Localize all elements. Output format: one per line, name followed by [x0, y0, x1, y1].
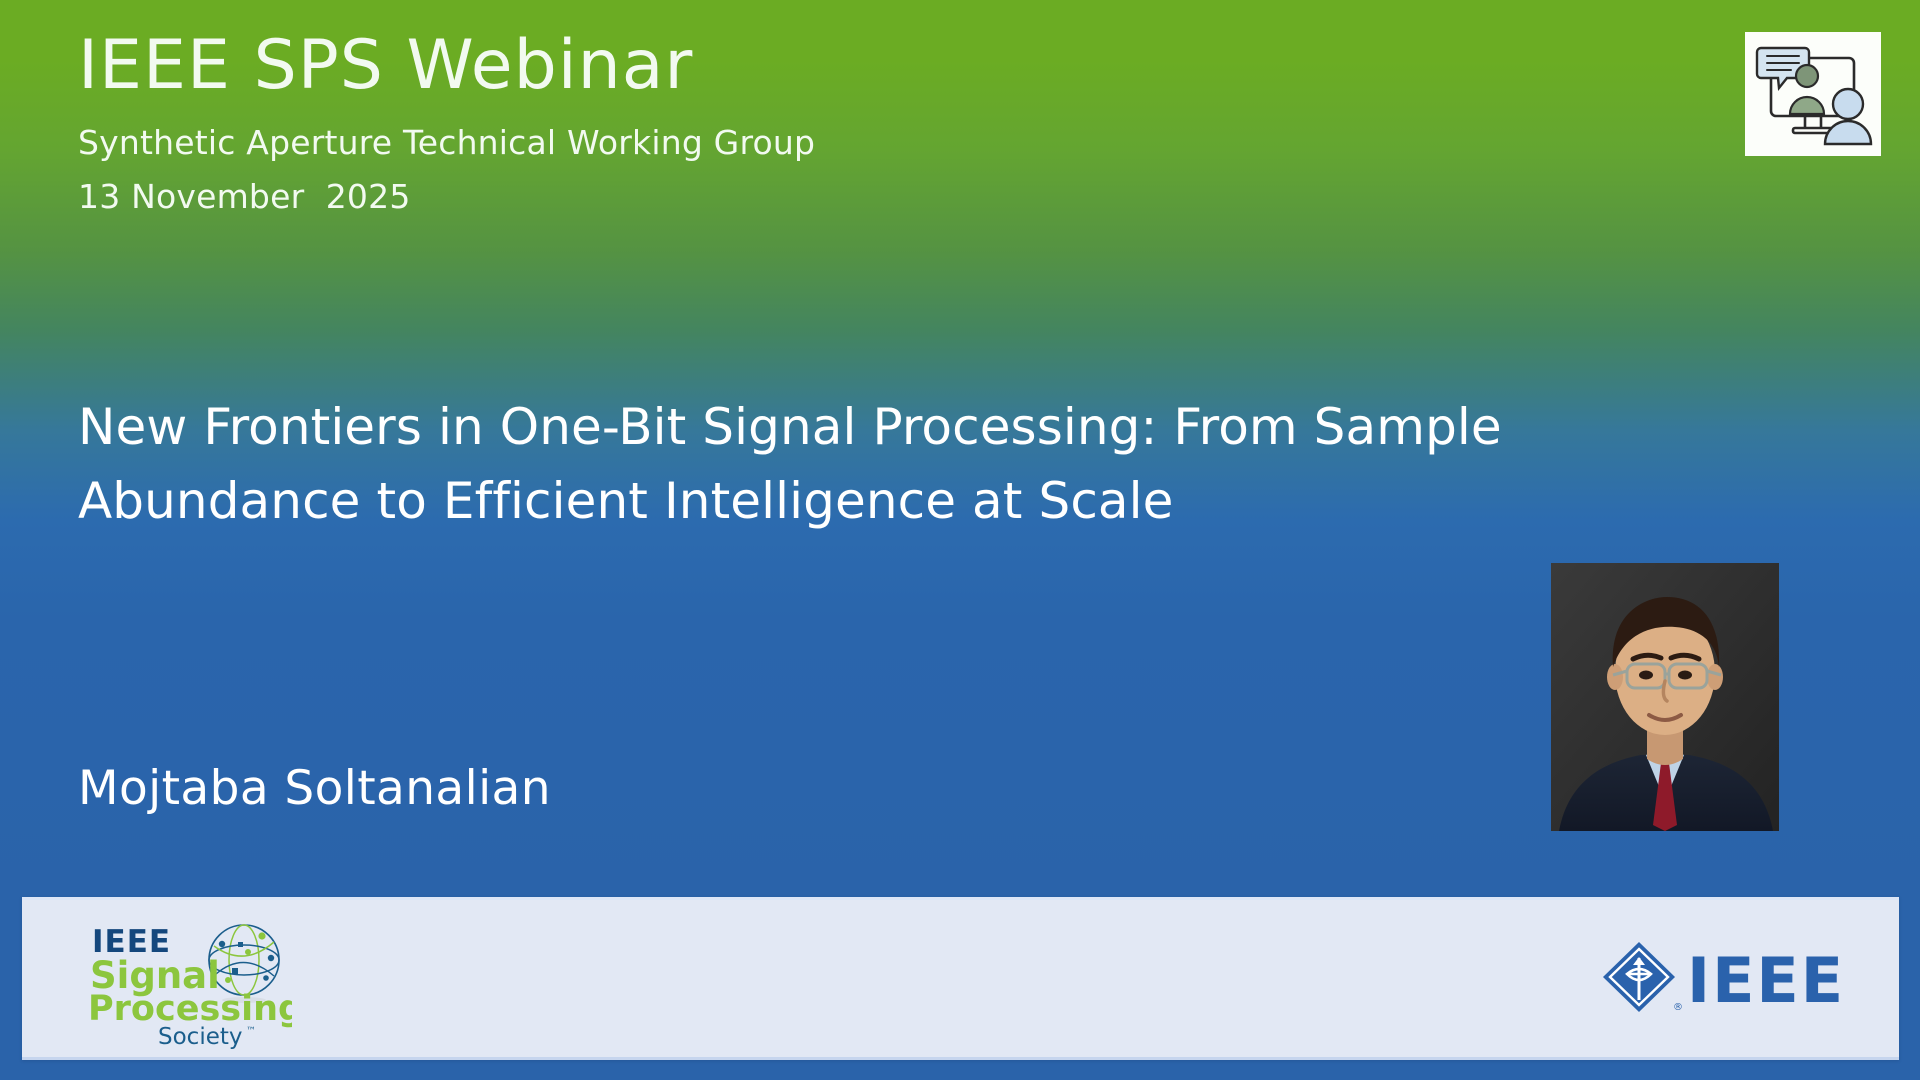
svg-text:Processing: Processing — [88, 989, 292, 1029]
svg-text:™: ™ — [246, 1026, 256, 1037]
webinar-monitor-people-icon — [1745, 32, 1881, 156]
ieee-signal-processing-society-logo: IEEE Signal Processing Society ™ — [70, 914, 292, 1050]
header-subtitle: Synthetic Aperture Technical Working Gro… — [78, 123, 1278, 162]
webinar-title-slide: IEEE SPS Webinar Synthetic Aperture Tech… — [0, 0, 1920, 1080]
svg-text:®: ® — [1673, 1002, 1683, 1013]
header-date: 13 November 2025 — [78, 177, 1278, 216]
svg-text:Society: Society — [158, 1024, 243, 1050]
page-title: IEEE SPS Webinar — [78, 30, 1278, 101]
footer-panel: IEEE Signal Processing Society ™ ® — [22, 897, 1899, 1060]
header-block: IEEE SPS Webinar Synthetic Aperture Tech… — [78, 30, 1278, 216]
speaker-name: Mojtaba Soltanalian — [78, 761, 551, 816]
talk-title: New Frontiers in One-Bit Signal Processi… — [78, 390, 1508, 538]
svg-text:IEEE: IEEE — [1687, 944, 1845, 1016]
ieee-master-brand-logo: ® IEEE — [1599, 938, 1861, 1016]
speaker-headshot-portrait — [1551, 563, 1779, 831]
